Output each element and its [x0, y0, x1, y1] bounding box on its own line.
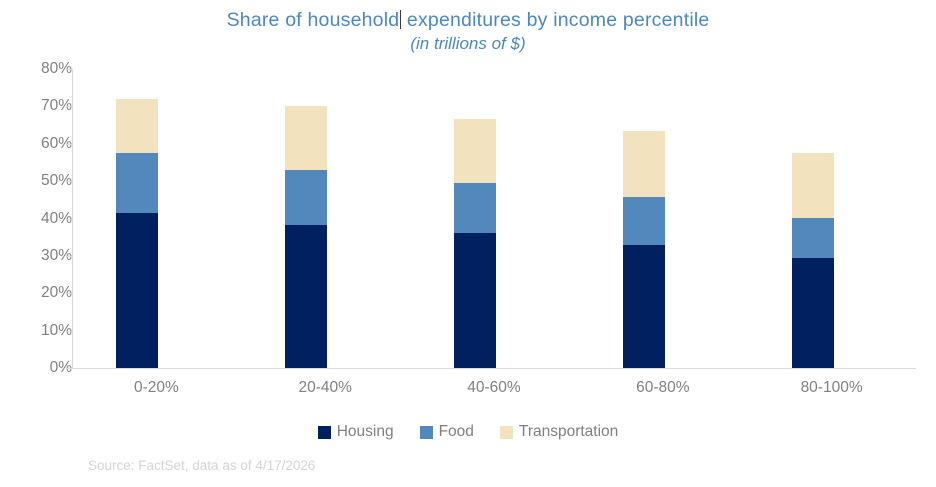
x-axis-tick-label: 40-60%: [414, 379, 574, 397]
y-axis-tick-label: 0%: [16, 359, 72, 377]
x-axis-tick-label: 60-80%: [583, 379, 743, 397]
y-axis-tick-label: 40%: [16, 210, 72, 228]
bar-segment-food[interactable]: [792, 218, 834, 258]
y-axis-tick-label: 80%: [16, 60, 72, 78]
bar-segment-food[interactable]: [116, 153, 158, 213]
legend-label: Transportation: [519, 423, 618, 441]
bar-group[interactable]: [623, 131, 665, 368]
bar-segment-food[interactable]: [623, 197, 665, 245]
bar-group[interactable]: [116, 99, 158, 368]
bar-segment-housing[interactable]: [623, 245, 665, 368]
legend-item-housing[interactable]: Housing: [318, 423, 394, 441]
y-axis-tick-label: 50%: [16, 172, 72, 190]
bar-segment-housing[interactable]: [285, 225, 327, 368]
legend-label: Housing: [337, 423, 394, 441]
plot-area: [72, 69, 916, 368]
chart-container: Share of household expenditures by incom…: [0, 0, 936, 487]
bar-segment-food[interactable]: [285, 170, 327, 225]
bar-group[interactable]: [792, 153, 834, 368]
source-note: Source: FactSet, data as of 4/17/2026: [88, 458, 315, 473]
legend-item-transportation[interactable]: Transportation: [500, 423, 618, 441]
y-axis-tick-label: 20%: [16, 284, 72, 302]
x-axis-line: [72, 368, 916, 369]
chart-title-text-before-caret: Share of household: [227, 9, 400, 31]
title-block: Share of household expenditures by incom…: [0, 10, 936, 53]
y-axis-tick-label: 30%: [16, 247, 72, 265]
legend[interactable]: HousingFoodTransportation: [0, 423, 936, 441]
chart-subtitle[interactable]: (in trillions of $): [0, 34, 936, 53]
legend-item-food[interactable]: Food: [420, 423, 474, 441]
legend-swatch-icon: [318, 426, 331, 439]
bar-segment-transportation[interactable]: [623, 131, 665, 197]
bar-segment-transportation[interactable]: [285, 106, 327, 170]
legend-swatch-icon: [420, 426, 433, 439]
legend-label: Food: [439, 423, 474, 441]
x-axis-tick-label: 20-40%: [245, 379, 405, 397]
chart-title-text-after-caret: expenditures by income percentile: [401, 9, 709, 31]
bar-segment-transportation[interactable]: [116, 99, 158, 153]
bar-segment-housing[interactable]: [454, 233, 496, 368]
chart-title[interactable]: Share of household expenditures by incom…: [227, 10, 710, 32]
x-axis-tick-label: 0-20%: [76, 379, 236, 397]
x-axis-tick-label: 80-100%: [752, 379, 912, 397]
bar-segment-housing[interactable]: [792, 258, 834, 368]
y-axis-tick-label: 60%: [16, 135, 72, 153]
y-axis-tick-label: 70%: [16, 97, 72, 115]
y-axis-tick-label: 10%: [16, 322, 72, 340]
legend-swatch-icon: [500, 426, 513, 439]
bar-segment-housing[interactable]: [116, 213, 158, 368]
bar-segment-transportation[interactable]: [454, 119, 496, 183]
bar-segment-transportation[interactable]: [792, 153, 834, 218]
bar-segment-food[interactable]: [454, 183, 496, 233]
y-axis[interactable]: 0%10%20%30%40%50%60%70%80%: [0, 0, 72, 487]
bar-group[interactable]: [454, 119, 496, 368]
bar-group[interactable]: [285, 106, 327, 368]
